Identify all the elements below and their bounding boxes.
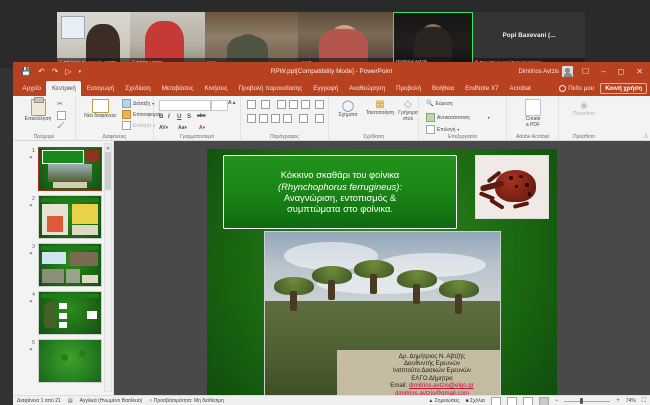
new-slide-button[interactable]: Νέα διαφάνεια [81,99,119,120]
shapes-label: Σχήματα [338,113,357,119]
group-label-acrobat: Adobe Acrobat [507,134,558,140]
copy-button[interactable] [57,111,66,120]
ribbon-tab-4[interactable]: Μεταβάσεις [156,81,199,96]
account-info[interactable]: Dimitrios Avtzis [518,66,573,77]
participant-tile[interactable]: user2 [298,12,393,67]
comments-label: Σχόλια [470,398,485,404]
addin-label: Πρόσθετο [573,112,595,118]
slide-title-box[interactable]: Κόκκινο σκαθάρι του φοίνικα(Rhynchophoru… [223,155,457,229]
group-label-clipboard: Πρόχειρο [13,134,75,140]
title-bar: 💾 ↶ ↷ ▷ ▾ RPW.ppt[Compatibility Mode] - … [13,62,650,81]
participant-tile[interactable]: Christos Kagonaris-HSPN [57,12,130,67]
section-button[interactable]: Ενότητα ▾ [122,121,155,130]
ribbon-group-paragraph: Παράγραφος [241,96,329,140]
paste-button[interactable]: Επικόλληση [21,99,55,123]
text-shadow-button[interactable]: S [187,113,191,120]
author-line: ΕΛΓΟ Δήμητρα [337,375,501,382]
ribbon-tab-2[interactable]: Εισαγωγή [81,81,119,96]
group-label-addin: Πρόσθετο [559,134,609,140]
accessibility-icon: ○ [149,398,152,404]
create-pdf-button[interactable]: Create a PDF [516,99,550,128]
avatar[interactable] [562,66,573,77]
language-indicator[interactable]: Αγγλικά (Ηνωμένο Βασίλειο) [80,398,143,404]
group-label-paragraph: Παράγραφος [241,134,328,140]
copy-icon [57,111,66,120]
group-label-editing: Επεξεργασία [419,134,506,140]
format-painter-icon: 🖌 [57,122,65,129]
collapse-ribbon-icon[interactable]: △ [644,133,648,139]
screen: Christos Kagonaris-HSPN EEPF HSPN user [0,0,650,405]
red-palm-weevil-photo[interactable] [475,155,549,219]
zoom-out-button[interactable]: − [555,398,559,404]
replace-icon [426,113,435,122]
find-label: Εύρεση [435,101,452,107]
author-line: Διευθυντής Ερευνών [337,360,501,367]
notes-label: Σημειώσεις [435,398,460,404]
ribbon-tab-10[interactable]: Βοήθεια [426,81,459,96]
slide-title-line: συμπτώματα στο φοίνικα. [278,203,402,214]
zoom-in-button[interactable]: + [616,398,620,404]
animation-star-icon: ✷ [27,299,35,305]
align-left-button[interactable] [247,114,256,123]
group-label-font: Γραμματοσειρά [154,134,240,140]
participant-tile[interactable]: EEPF HSPN [130,12,205,67]
close-button[interactable]: ✕ [633,67,646,76]
slideshow-view-button[interactable] [539,397,549,405]
shapes-gallery-button[interactable]: ◯ Σχήματα [333,99,363,119]
numbering-button[interactable] [261,100,270,109]
slide-thumbnail[interactable] [38,291,102,335]
ribbon-tab-6[interactable]: Προβολή παρουσίασης [233,81,308,96]
thumbnail-number: 5 [25,340,35,346]
tell-me-label: Πείτε μου [568,85,594,92]
notes-button[interactable]: ▲ Σημειώσεις [428,398,459,404]
ribbon-display-options-icon[interactable]: ☐ [579,67,592,76]
ribbon-group-acrobat: Create a PDF Adobe Acrobat [507,96,559,140]
quick-styles-label: Γρήγορα στυλ [395,111,421,122]
select-label: Επιλογή [437,127,455,133]
ribbon-group-addin: ◉ Πρόσθετο Πρόσθετο [559,96,609,140]
email-label: Email: [390,382,407,389]
layout-button[interactable]: Διάταξη ▾ [122,99,154,108]
animation-star-icon: ✷ [27,203,35,209]
status-bar: Διαφάνεια 1 από 21 ▤ Αγγλικά (Ηνωμένο Βα… [13,395,650,405]
slide-title-line: Κόκκινο σκαθάρι του φοίνικα [278,169,402,180]
group-label-drawing: Σχεδίαση [329,134,418,140]
thumbnail-number: 4 [25,292,35,298]
share-label: Κοινή χρήση [605,86,642,92]
thumbnail-number: 1 [25,148,35,154]
ribbon-tab-9[interactable]: Προβολή [391,81,427,96]
ribbon-tab-3[interactable]: Σχεδίαση [120,81,157,96]
notes-icon: ▲ [428,398,433,404]
paste-icon [31,99,46,116]
zoom-slider[interactable] [564,398,610,405]
character-spacing-button[interactable]: AV▾ [159,125,168,131]
fit-slide-to-window-icon[interactable]: ⛶ [642,398,646,405]
section-icon [122,121,131,130]
create-pdf-label: Create a PDF [525,117,540,128]
replace-label: Αντικατάσταση [437,115,470,121]
new-slide-icon [92,99,109,113]
ribbon-tab-7[interactable]: Εγγραφή [308,81,344,96]
animation-star-icon: ✷ [27,251,35,257]
comments-button[interactable]: ■ Σχόλια [466,398,485,404]
animation-star-icon: ✷ [27,155,35,161]
align-right-button[interactable] [271,114,280,123]
chevron-down-icon: ▾ [488,115,490,120]
author-line: Ινστιτούτο Δασικών Ερευνών [337,367,501,374]
ribbon-tab-0[interactable]: Αρχείο [17,81,46,96]
participant-tile-no-video[interactable]: Popi Baxevani (... Popi Baxevani (Natura… [473,12,585,67]
chevron-down-icon: ▾ [457,127,459,132]
participant-tile-active-speaker[interactable]: Dimitrios Avtzis [393,12,473,67]
layout-icon [122,99,131,108]
ribbon-tab-1[interactable]: Κεντρική [46,81,81,96]
powerpoint-window: 💾 ↶ ↷ ▷ ▾ RPW.ppt[Compatibility Mode] - … [13,62,650,405]
group-label-slides: Διαφάνειες [76,134,153,140]
tell-me-box[interactable]: Πείτε μου [559,85,594,92]
thumbnail-number: 2 [25,196,35,202]
account-name: Dimitrios Avtzis [518,69,559,75]
quick-styles-icon: ◇ [404,99,412,110]
format-painter-button[interactable]: 🖌 [57,122,65,129]
find-button[interactable]: 🔍 Εύρεση [426,100,453,107]
accessibility-label: Προσβασιμότητα: Μη διαθέσιμη [154,398,224,404]
ribbon-tab-5[interactable]: Κινήσεις [199,81,233,96]
addin-icon: ◉ [580,100,588,111]
slide-author-block[interactable]: Δρ. Δημήτριος Ν. ΑβτζήςΔιευθυντής Ερευνώ… [337,350,501,401]
reading-view-button[interactable] [523,397,533,405]
lightbulb-icon [559,85,566,92]
addin-button[interactable]: ◉ Πρόσθετο [567,100,601,118]
share-button[interactable]: Κοινή χρήση [600,83,647,94]
participant-display-name: Popi Baxevani (... [473,32,585,39]
ribbon-group-editing: 🔍 Εύρεση Αντικατάσταση ▾ Επιλογή ▾ Επεξε… [419,96,507,140]
reset-icon [122,110,131,119]
restore-button[interactable]: ◻ [615,67,628,76]
author-line: Δρ. Δημήτριος Ν. Αβτζής [337,353,501,360]
align-center-button[interactable] [259,114,268,123]
arrange-button[interactable]: ▦ Τακτοποίηση [363,99,397,117]
email-link[interactable]: dimitrios.avtzis@elgo.gr [409,382,474,389]
change-case-button[interactable]: Aa▾ [178,125,187,131]
zoom-level[interactable]: 74% [626,398,636,404]
italic-button[interactable]: I [168,113,170,120]
arrange-label: Τακτοποίηση [366,111,394,117]
underline-button[interactable]: U [177,113,181,120]
ribbon-tab-12[interactable]: Acrobat [504,81,536,96]
ribbon-tab-8[interactable]: Αναθεώρηση [344,81,391,96]
slide-counter: Διαφάνεια 1 από 21 [17,398,61,404]
text-direction-button[interactable] [315,100,324,109]
increase-font-size-icon[interactable]: A▲ [228,100,237,106]
align-text-button[interactable] [315,114,324,123]
accessibility-status[interactable]: ○ Προσβασιμότητα: Μη διαθέσιμη [149,398,224,404]
scrollbar-thumb[interactable] [105,152,111,190]
ribbon-group-font: A▲ B I U S abc AV▾ Aa▾ A▾ Γραμματοσειρά [154,96,241,140]
slide-sorter-view-button[interactable] [507,397,517,405]
comment-icon: ■ [466,398,469,404]
ribbon-tab-bar: ΑρχείοΚεντρικήΕισαγωγήΣχεδίασηΜεταβάσεις… [13,81,650,96]
section-label: Ενότητα [133,123,151,129]
increase-indent-button[interactable] [289,100,298,109]
slide-thumbnail-pane[interactable]: 1✷2✷3✷4✷5✷ ▲ [13,141,114,405]
line-spacing-button[interactable] [301,100,310,109]
shapes-icon: ◯ [342,99,354,112]
ribbon-group-drawing: ◯ Σχήματα ▦ Τακτοποίηση ◇ Γρήγορα στυλ Σ… [329,96,419,140]
slide-thumbnail[interactable] [38,243,102,287]
new-slide-label: Νέα διαφάνεια [84,114,116,120]
pdf-icon [525,99,541,116]
font-size-input[interactable] [211,100,228,111]
layout-label: Διάταξη [133,101,150,107]
columns-button[interactable] [299,114,308,123]
scissors-icon: ✂ [57,100,63,108]
current-slide[interactable]: Κόκκινο σκαθάρι του φοίνικα(Rhynchophoru… [207,149,557,405]
slide-thumbnail[interactable] [38,339,102,383]
email-line[interactable]: Email: dimitrios.avtzis@elgo.gr [337,382,501,389]
justify-button[interactable] [283,114,292,123]
slide-thumbnail[interactable] [38,195,102,239]
arrange-icon: ▦ [375,99,384,110]
paste-label: Επικόλληση [25,117,52,123]
ribbon-group-clipboard: Επικόλληση ✂ 🖌 Πρόχειρο [13,96,76,140]
minimize-button[interactable]: – [598,67,608,76]
scroll-up-arrow[interactable]: ▲ [105,144,111,151]
bullets-button[interactable] [247,100,256,109]
slide-thumbnail[interactable] [38,147,102,191]
cut-button[interactable]: ✂ [57,100,63,108]
thumbnail-scrollbar[interactable]: ▲ [104,143,112,392]
ribbon: Επικόλληση ✂ 🖌 Πρόχειρο Νέα διαφάνεια [13,96,650,141]
slide-editing-stage: Κόκκινο σκαθάρι του φοίνικα(Rhynchophoru… [114,141,650,405]
participant-tile[interactable]: user [205,12,298,67]
normal-view-button[interactable] [491,397,501,405]
font-name-input[interactable] [159,100,211,111]
strikethrough-button[interactable]: abc [197,113,206,119]
spellcheck-icon[interactable]: ▤ [68,398,73,404]
font-color-button[interactable]: A▾ [199,125,205,131]
slide-title-line: (Rhynchophorus ferrugineus): [278,181,402,192]
ribbon-tab-11[interactable]: EndNote X7 [460,81,504,96]
replace-button[interactable]: Αντικατάσταση ▾ [426,113,490,122]
slide-title-line: Αναγνώριση, εντοπισμός & [278,192,402,203]
palm-grove-photo[interactable]: Δρ. Δημήτριος Ν. ΑβτζήςΔιευθυντής Ερευνώ… [264,231,501,405]
thumbnail-number: 3 [25,244,35,250]
ribbon-group-slides: Νέα διαφάνεια Διάταξη ▾ Επαναφορά Ενότητ… [76,96,154,140]
quick-styles-button[interactable]: ◇ Γρήγορα στυλ [395,99,421,122]
search-icon: 🔍 [426,100,433,107]
editor-body: 1✷2✷3✷4✷5✷ ▲ Κόκκινο σκαθάρι του φοίνικα… [13,141,650,405]
decrease-indent-button[interactable] [277,100,286,109]
bold-button[interactable]: B [159,113,163,120]
video-conference-strip: Christos Kagonaris-HSPN EEPF HSPN user [0,0,650,68]
animation-star-icon: ✷ [27,347,35,353]
